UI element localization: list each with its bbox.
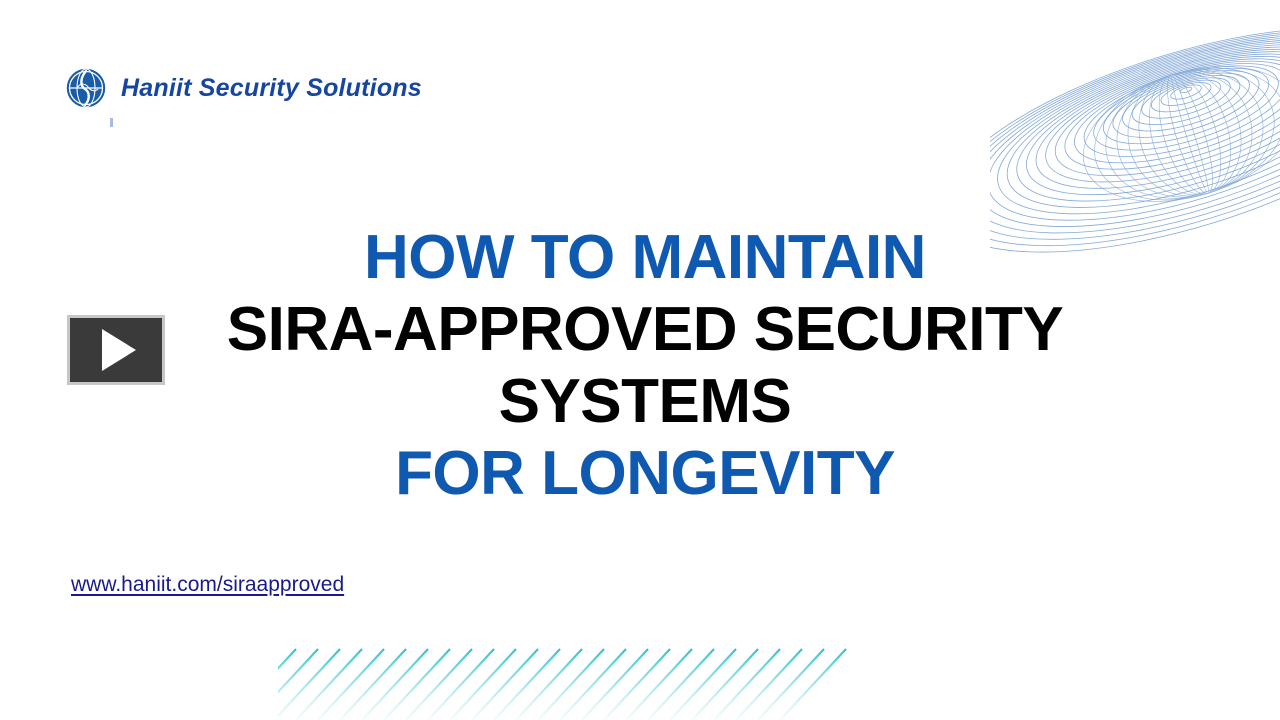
title-line-4: FOR LONGEVITY [145,438,1145,510]
title-line-1: HOW TO MAINTAIN [145,222,1145,294]
title-line-2: SIRA-APPROVED SECURITY [145,294,1145,366]
title-line-3: SYSTEMS [145,366,1145,438]
website-link[interactable]: www.haniit.com/siraapproved [71,573,344,597]
globe-shield-logo-icon [64,66,108,110]
diagonal-hatch-decoration [278,641,858,720]
play-icon [102,329,136,371]
slide-canvas: Haniit Security Solutions HOW TO MAINTAI… [0,0,1280,720]
play-button[interactable] [67,315,165,385]
brand-name: Haniit Security Solutions [121,74,422,103]
brand-tick-mark [110,118,113,127]
page-title: HOW TO MAINTAIN SIRA-APPROVED SECURITY S… [145,222,1145,510]
brand-header[interactable]: Haniit Security Solutions [64,66,422,110]
